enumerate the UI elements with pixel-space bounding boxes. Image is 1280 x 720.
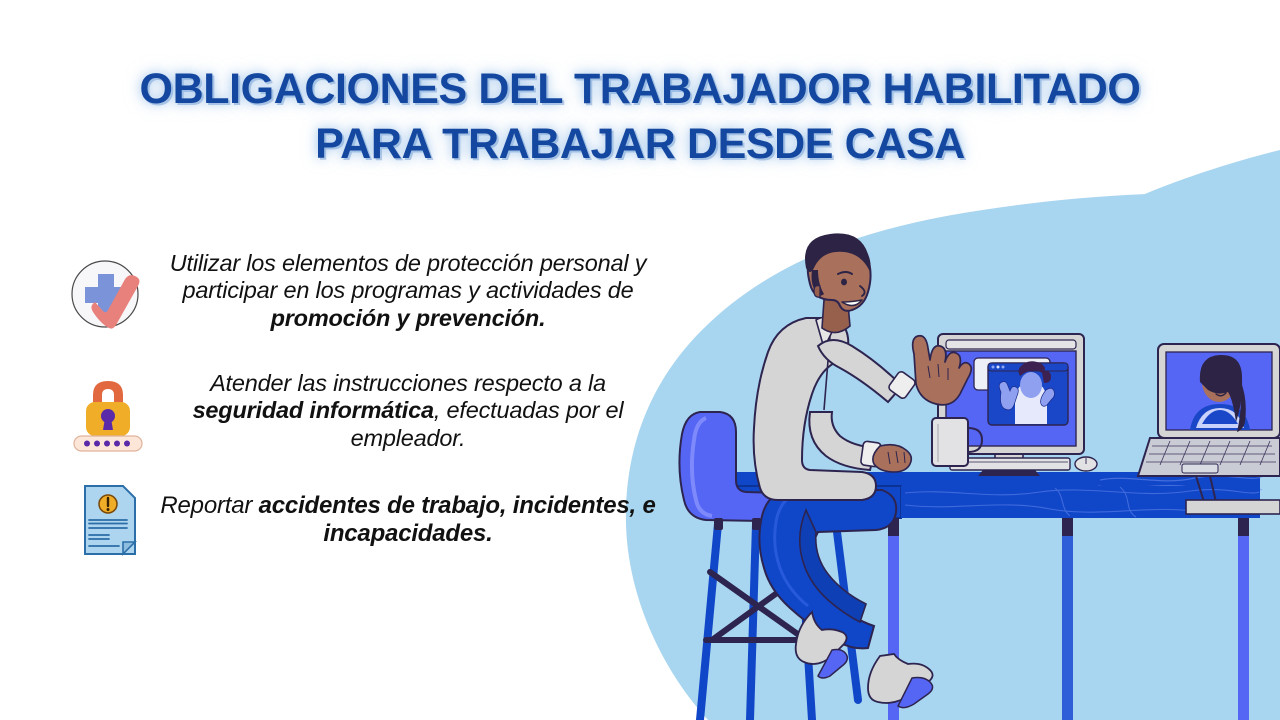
title-line-2: PARA TRABAJAR DESDE CASA [0,117,1280,172]
bullet-1-normal-1: Utilizar los elementos de protección per… [170,250,647,303]
poster-title: OBLIGACIONES DEL TRABAJADOR HABILITADO P… [0,62,1280,172]
woman-on-laptop-screen [1190,355,1250,432]
sideburn [812,270,825,296]
list-item: Reportar accidentes de trabajo, incident… [60,478,660,560]
chair-legs [700,524,858,720]
chair-shell-highlight [692,418,712,516]
monitor-app-dot-1 [952,365,961,374]
list-item: Utilizar los elementos de protección per… [60,250,660,340]
neck [822,299,850,333]
monitor-back-window [974,358,1050,390]
monitor-topbar [946,340,1076,349]
monitor-bezel [938,334,1084,454]
poster-canvas: OBLIGACIONES DEL TRABAJADOR HABILITADO P… [0,0,1280,720]
desk-legs [888,518,1249,720]
eye [841,279,847,286]
bullet-2-text: Atender las instrucciones respecto a la … [156,364,660,452]
laptop-riser [1196,476,1216,502]
medical-cross-check-icon [65,254,151,340]
coffee-mug [932,418,982,466]
bullet-3-bold-1: accidentes de trabajo, incidentes, e inc… [259,492,656,547]
bullet-3-icon-slot [60,478,156,560]
keyboard [950,458,1070,470]
ear [814,286,820,298]
hair [805,233,871,272]
desk-apron-grain [905,487,1259,517]
list-item: Atender las instrucciones respecto a la … [60,364,660,454]
office-chair [679,412,858,720]
mouth [842,300,862,306]
hand-lower [873,445,911,472]
cuff-upper [887,370,916,400]
laptop [1138,344,1280,514]
monitor-stand-base [978,470,1040,476]
bullet-3-normal-1: Reportar [160,492,258,519]
incident-report-document-icon [75,480,141,560]
desk-top [700,472,1260,492]
bullet-1-text: Utilizar los elementos de protección per… [156,250,660,332]
cuff-lower [860,441,881,467]
monitor-stand-neck [995,452,1023,470]
shirt-placket [824,336,830,410]
eyebrow [838,272,852,274]
padlock-password-icon [68,370,148,454]
drawer-knob-left [752,499,758,505]
obligations-list: Utilizar los elementos de protección per… [60,250,660,584]
foot-front [868,654,933,708]
bullet-3-text: Reportar accidentes de trabajo, incident… [156,478,660,548]
desk-apron [901,486,1260,518]
chair-cross-brace [706,572,826,640]
bullet-1-icon-slot [60,250,156,340]
seated-man [754,233,972,707]
hand-raised [913,336,972,405]
laptop-trackpad [1182,464,1218,473]
chair-shell [679,412,842,522]
video-call-window [988,361,1068,425]
monitor-app-dot-2 [951,381,960,390]
shirt [754,318,876,500]
desk-drawer-right [806,486,901,518]
woman-on-monitor-screen [999,361,1054,424]
desk-drawer-left [708,486,803,518]
arm-upper [818,340,902,402]
arm-lower [809,412,876,470]
pants-shadow [775,492,808,606]
monitor-screen [946,351,1076,446]
bullet-2-bold-1: seguridad informática [193,397,434,423]
drawer-knob-right [850,499,856,505]
nose [860,286,865,296]
head [808,235,871,311]
title-line-1: OBLIGACIONES DEL TRABAJADOR HABILITADO [0,62,1280,117]
pants [759,490,896,648]
desktop-monitor [938,334,1084,476]
laptop-keys [1146,441,1276,465]
foot-back [796,612,848,678]
bullet-2-normal-1: Atender las instrucciones respecto a la [210,370,606,396]
bullet-1-bold-1: promoción y prevención. [271,305,546,331]
shirt-collar [816,317,838,348]
pants-back-leg [800,510,866,622]
desk-wood-grain [1098,476,1262,492]
background-blob [626,193,1280,720]
bullet-2-icon-slot [60,364,156,454]
chair-leg-caps [714,518,805,530]
mouse [1075,457,1097,471]
